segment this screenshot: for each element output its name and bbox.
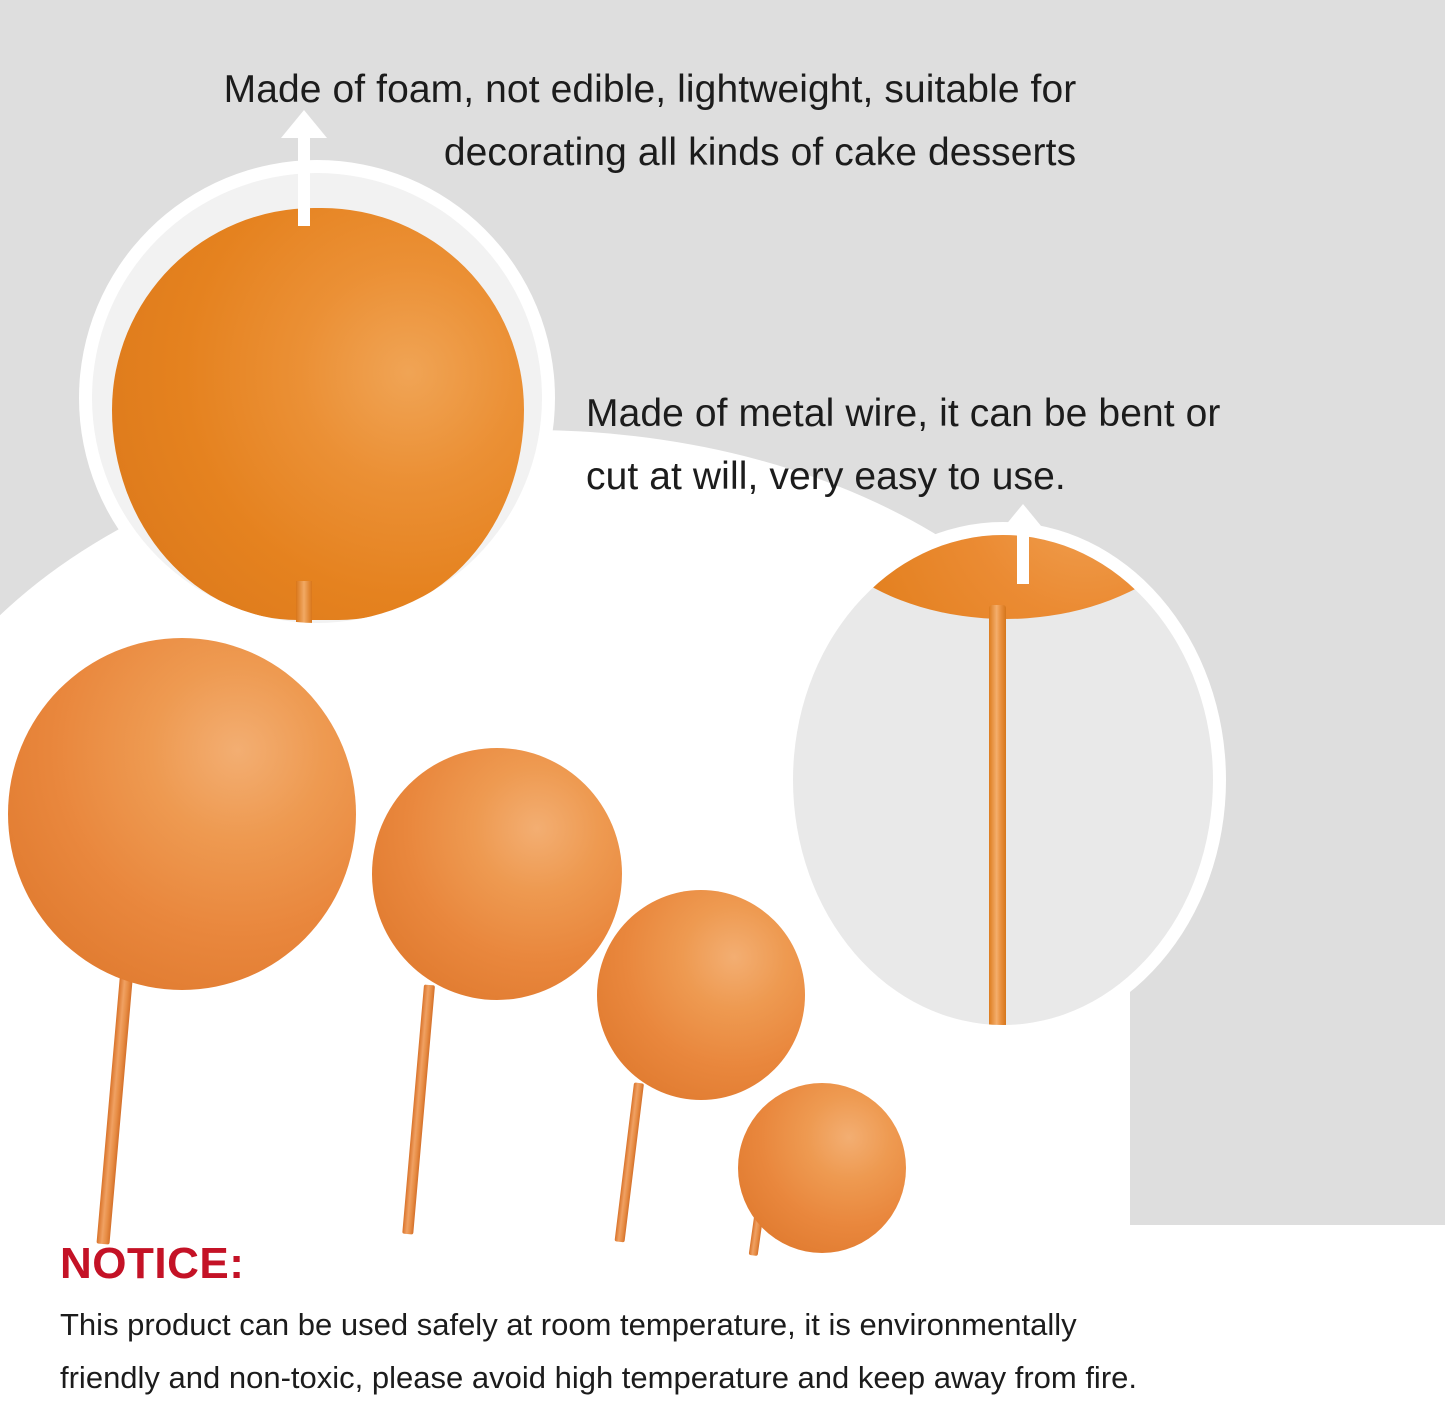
product-infographic: Made of foam, not edible, lightweight, s… xyxy=(0,0,1445,1405)
foam-callout-text: Made of foam, not edible, lightweight, s… xyxy=(0,58,1280,184)
notice-block: NOTICE: This product can be used safely … xyxy=(60,1240,1410,1404)
foam-ball-magnifier xyxy=(92,173,542,623)
magnified-foam-ball-tip xyxy=(296,581,312,623)
wire-callout-line-2: cut at will, very easy to use. xyxy=(586,445,1221,508)
foam-ball-medium xyxy=(597,890,805,1100)
notice-body-line-1: This product can be used safely at room … xyxy=(60,1298,1410,1351)
foam-callout-line-1: Made of foam, not edible, lightweight, s… xyxy=(0,58,1280,121)
wire-callout-line-1: Made of metal wire, it can be bent or xyxy=(586,382,1221,445)
notice-title: NOTICE: xyxy=(60,1240,1410,1288)
arrow-shaft xyxy=(1017,528,1029,584)
foam-ball-medium-large xyxy=(372,748,622,1000)
magnified-metal-wire-stem xyxy=(989,605,1006,1025)
notice-body-line-2: friendly and non-toxic, please avoid hig… xyxy=(60,1351,1410,1404)
wire-callout-text: Made of metal wire, it can be bent or cu… xyxy=(586,382,1221,508)
wire-stem-magnifier xyxy=(793,535,1213,1025)
foam-ball-large xyxy=(8,638,356,990)
magnified-foam-ball xyxy=(112,208,524,620)
foam-ball-small xyxy=(738,1083,906,1253)
notice-body: This product can be used safely at room … xyxy=(60,1298,1410,1405)
foam-callout-line-2: decorating all kinds of cake desserts xyxy=(0,121,1280,184)
